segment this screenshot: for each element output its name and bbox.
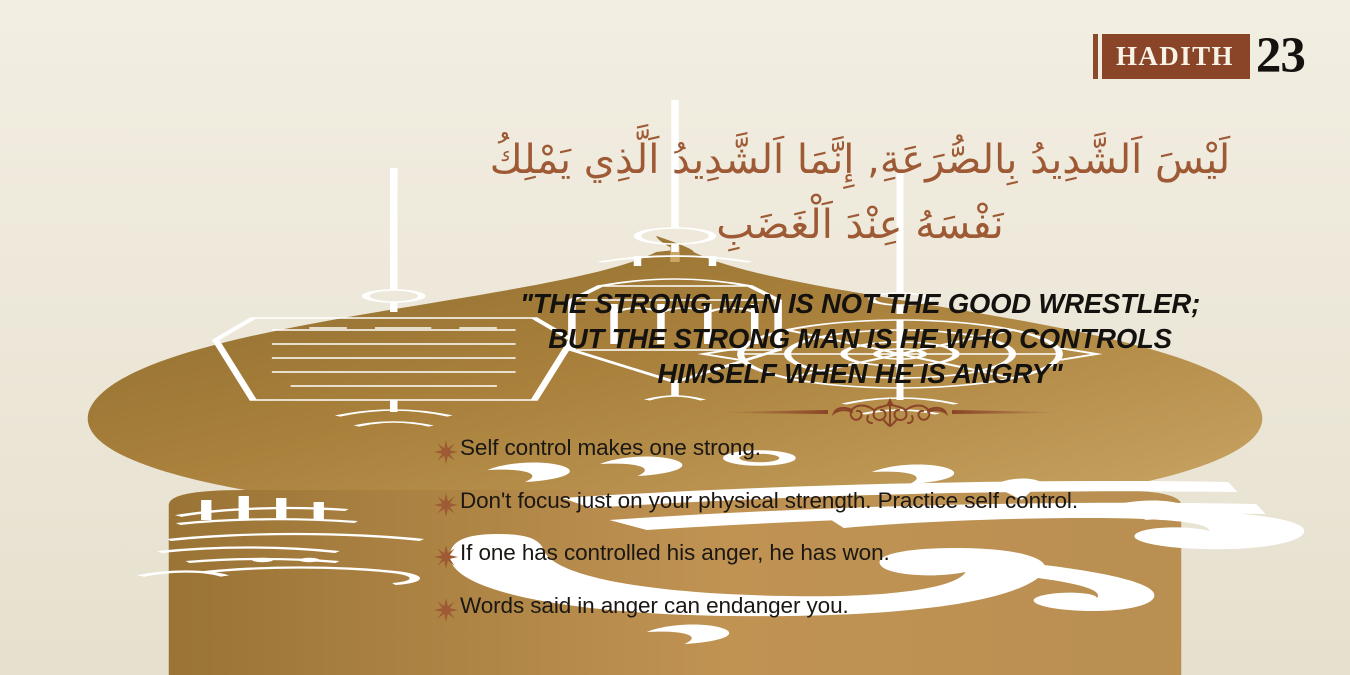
list-item: Words said in anger can endanger you. (432, 592, 1282, 624)
key-points-list: Self control makes one strong. Don't foc… (432, 434, 1282, 644)
list-item-label: Don't focus just on your physical streng… (460, 487, 1078, 515)
arabic-line-1: لَيْسَ اَلشَّدِيدُ بِالصُّرَعَةِ, إِنَّم… (430, 128, 1290, 193)
arabic-hadith-text: لَيْسَ اَلشَّدِيدُ بِالصُّرَعَةِ, إِنَّم… (430, 128, 1290, 258)
star-bullet-icon (432, 438, 460, 466)
list-item-label: Words said in anger can endanger you. (460, 592, 849, 620)
star-bullet-icon (432, 596, 460, 624)
arabic-line-2: نَفْسَهُ عِنْدَ اَلْغَضَبِ (430, 193, 1290, 258)
translation-line-3: HIMSELF WHEN HE IS ANGRY" (430, 356, 1290, 391)
badge-accent-bar (1093, 34, 1098, 79)
translation-line-2: BUT THE STRONG MAN IS HE WHO CONTROLS (430, 321, 1290, 356)
star-bullet-icon (432, 543, 460, 571)
list-item: Don't focus just on your physical streng… (432, 487, 1282, 519)
translation-line-1: "THE STRONG MAN IS NOT THE GOOD WRESTLER… (430, 286, 1290, 321)
hadith-number: 23 (1256, 34, 1305, 79)
list-item-label: Self control makes one strong. (460, 434, 761, 462)
badge-box: HADITH (1102, 34, 1250, 79)
hadith-badge: HADITH 23 (1093, 34, 1305, 79)
star-bullet-icon (432, 491, 460, 519)
list-item-label: If one has controlled his anger, he has … (460, 539, 890, 567)
badge-label: HADITH (1116, 43, 1234, 70)
ornament-divider (720, 392, 1060, 432)
hadith-card: HADITH 23 لَيْسَ اَلشَّدِيدُ بِالصُّرَعَ… (0, 0, 1350, 675)
english-translation: "THE STRONG MAN IS NOT THE GOOD WRESTLER… (430, 286, 1290, 391)
list-item: Self control makes one strong. (432, 434, 1282, 466)
list-item: If one has controlled his anger, he has … (432, 539, 1282, 571)
